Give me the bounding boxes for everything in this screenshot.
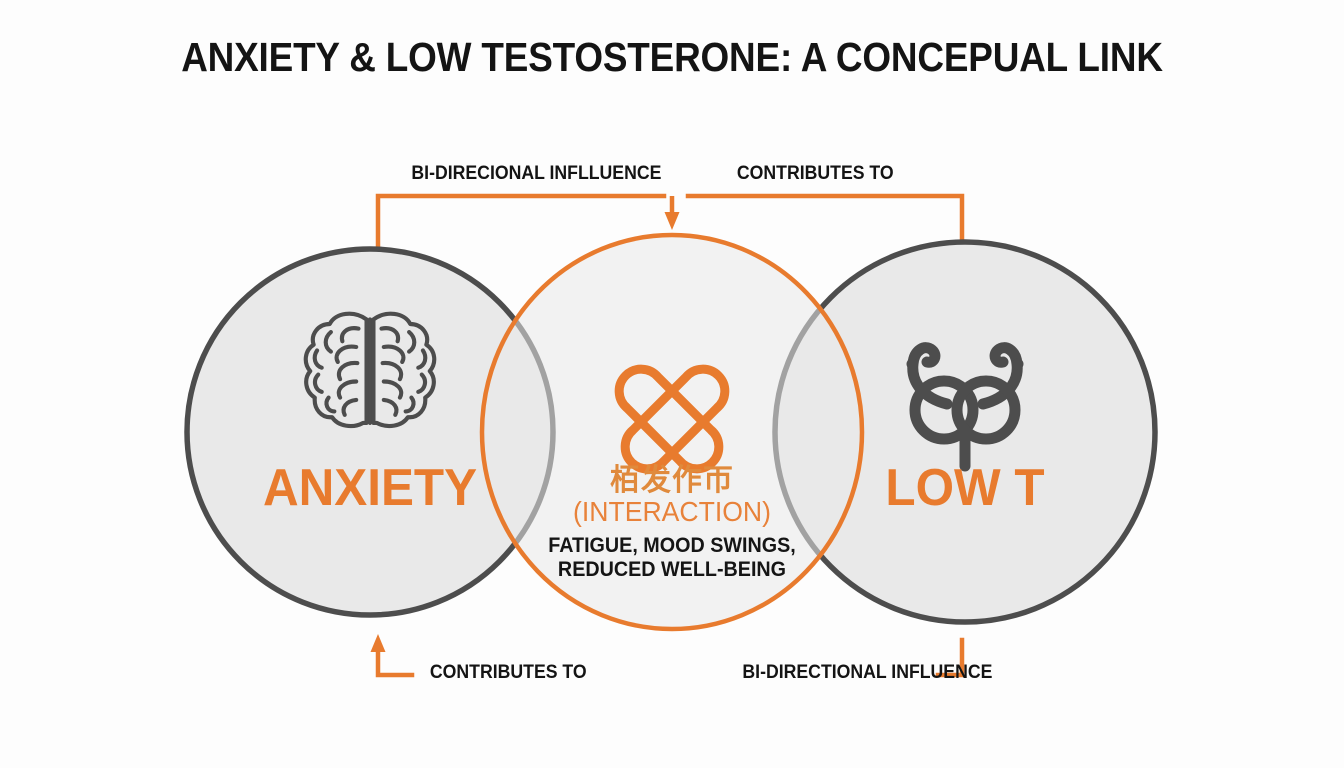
arrow-down-to-center: [665, 196, 680, 230]
circle-label-interaction: (INTERACTION): [509, 497, 836, 528]
connector-label-bottom-left: CONTRIBUTES TO: [430, 662, 587, 684]
circle-label-anxiety: ANXIETY: [228, 458, 513, 518]
connector-label-top-right: CONTRIBUTES TO: [737, 163, 894, 185]
connector-top-right: [688, 196, 962, 248]
symptoms-line-1: FATIGUE, MOOD SWINGS,: [510, 534, 833, 558]
venn-diagram-svg: [0, 0, 1344, 768]
infographic-canvas: ANXIETY & LOW TESTOSTERONE: A CONCEPUAL …: [0, 0, 1344, 768]
circle-label-low-t: LOW T: [851, 458, 1079, 518]
connector-label-top-left: BI-DIRECIONAL INFLLUENCE: [411, 163, 661, 185]
connector-label-bottom-right: BI-DIRECTIONAL INFLUENCE: [742, 662, 992, 684]
connector-bottom-left: [371, 634, 413, 675]
circle-label-interaction-group: 栢发作帀 (INTERACTION) FATIGUE, MOOD SWINGS,…: [500, 466, 844, 583]
intersection-symptoms: FATIGUE, MOOD SWINGS, REDUCED WELL-BEING: [510, 534, 833, 583]
circle-label-interaction-cjk: 栢发作帀: [500, 466, 844, 496]
symptoms-line-2: REDUCED WELL-BEING: [510, 558, 833, 582]
